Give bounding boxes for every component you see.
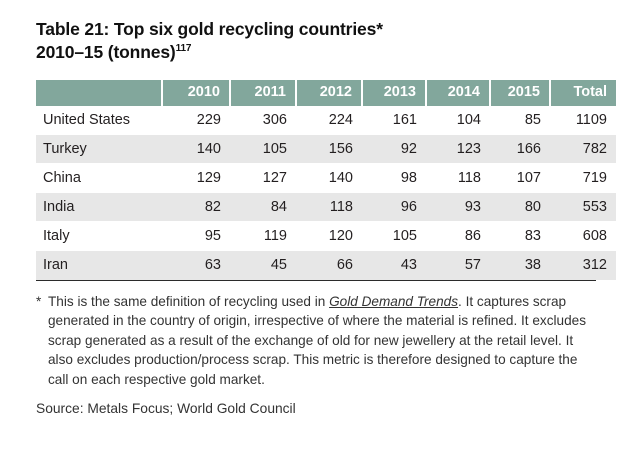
title-footnote-marker: 117 [176, 43, 192, 54]
cell-2015: 38 [490, 251, 550, 280]
cell-2012: 156 [296, 135, 362, 164]
cell-2014: 104 [426, 106, 490, 135]
table-page: Table 21: Top six gold recycling countri… [0, 0, 621, 454]
cell-total: 608 [550, 222, 616, 251]
column-header-2015: 2015 [490, 80, 550, 106]
column-header-2014: 2014 [426, 80, 490, 106]
column-header-2011: 2011 [230, 80, 296, 106]
cell-2015: 83 [490, 222, 550, 251]
cell-2012: 118 [296, 193, 362, 222]
cell-2015: 166 [490, 135, 550, 164]
table-row: India 82 84 118 96 93 80 553 [36, 193, 616, 222]
title-line-2: 2010–15 (tonnes) [36, 42, 176, 62]
cell-2014: 93 [426, 193, 490, 222]
table-row: Italy 95 119 120 105 86 83 608 [36, 222, 616, 251]
cell-country: Italy [36, 222, 162, 251]
source-line: Source: Metals Focus; World Gold Council [36, 401, 596, 416]
cell-2013: 92 [362, 135, 426, 164]
table-bottom-rule [36, 280, 596, 281]
cell-2013: 96 [362, 193, 426, 222]
cell-2013: 161 [362, 106, 426, 135]
cell-total: 1109 [550, 106, 616, 135]
cell-2013: 98 [362, 164, 426, 193]
table-row: Iran 63 45 66 43 57 38 312 [36, 251, 616, 280]
recycling-table: 2010 2011 2012 2013 2014 2015 Total Unit… [36, 80, 616, 280]
cell-total: 719 [550, 164, 616, 193]
cell-2015: 85 [490, 106, 550, 135]
page-title: Table 21: Top six gold recycling countri… [36, 18, 596, 64]
cell-total: 312 [550, 251, 616, 280]
footnote: * This is the same definition of recycli… [36, 292, 594, 390]
cell-2014: 86 [426, 222, 490, 251]
cell-2010: 82 [162, 193, 230, 222]
cell-2013: 105 [362, 222, 426, 251]
cell-country: Turkey [36, 135, 162, 164]
footnote-part-1: This is the same definition of recycling… [48, 294, 329, 309]
cell-country: China [36, 164, 162, 193]
cell-2014: 118 [426, 164, 490, 193]
cell-country: United States [36, 106, 162, 135]
table-row: China 129 127 140 98 118 107 719 [36, 164, 616, 193]
cell-2015: 80 [490, 193, 550, 222]
cell-2011: 45 [230, 251, 296, 280]
table-header-row: 2010 2011 2012 2013 2014 2015 Total [36, 80, 616, 106]
cell-country: Iran [36, 251, 162, 280]
cell-2010: 129 [162, 164, 230, 193]
cell-2011: 127 [230, 164, 296, 193]
cell-total: 782 [550, 135, 616, 164]
cell-country: India [36, 193, 162, 222]
cell-2010: 63 [162, 251, 230, 280]
cell-total: 553 [550, 193, 616, 222]
footnote-reference-link[interactable]: Gold Demand Trends [329, 294, 458, 309]
cell-2010: 229 [162, 106, 230, 135]
cell-2012: 224 [296, 106, 362, 135]
cell-2014: 123 [426, 135, 490, 164]
footnote-text: This is the same definition of recycling… [36, 292, 594, 390]
title-line-1: Table 21: Top six gold recycling countri… [36, 19, 383, 39]
cell-2010: 95 [162, 222, 230, 251]
table-header: 2010 2011 2012 2013 2014 2015 Total [36, 80, 616, 106]
cell-2012: 140 [296, 164, 362, 193]
column-header-total: Total [550, 80, 616, 106]
column-header-2012: 2012 [296, 80, 362, 106]
cell-2013: 43 [362, 251, 426, 280]
cell-2011: 306 [230, 106, 296, 135]
footnote-marker: * [36, 292, 41, 312]
column-header-country [36, 80, 162, 106]
column-header-2010: 2010 [162, 80, 230, 106]
cell-2011: 105 [230, 135, 296, 164]
column-header-2013: 2013 [362, 80, 426, 106]
cell-2012: 120 [296, 222, 362, 251]
cell-2015: 107 [490, 164, 550, 193]
cell-2012: 66 [296, 251, 362, 280]
table-row: United States 229 306 224 161 104 85 110… [36, 106, 616, 135]
table-row: Turkey 140 105 156 92 123 166 782 [36, 135, 616, 164]
cell-2011: 84 [230, 193, 296, 222]
table-container: 2010 2011 2012 2013 2014 2015 Total Unit… [36, 80, 596, 281]
table-body: United States 229 306 224 161 104 85 110… [36, 106, 616, 280]
cell-2014: 57 [426, 251, 490, 280]
cell-2011: 119 [230, 222, 296, 251]
cell-2010: 140 [162, 135, 230, 164]
